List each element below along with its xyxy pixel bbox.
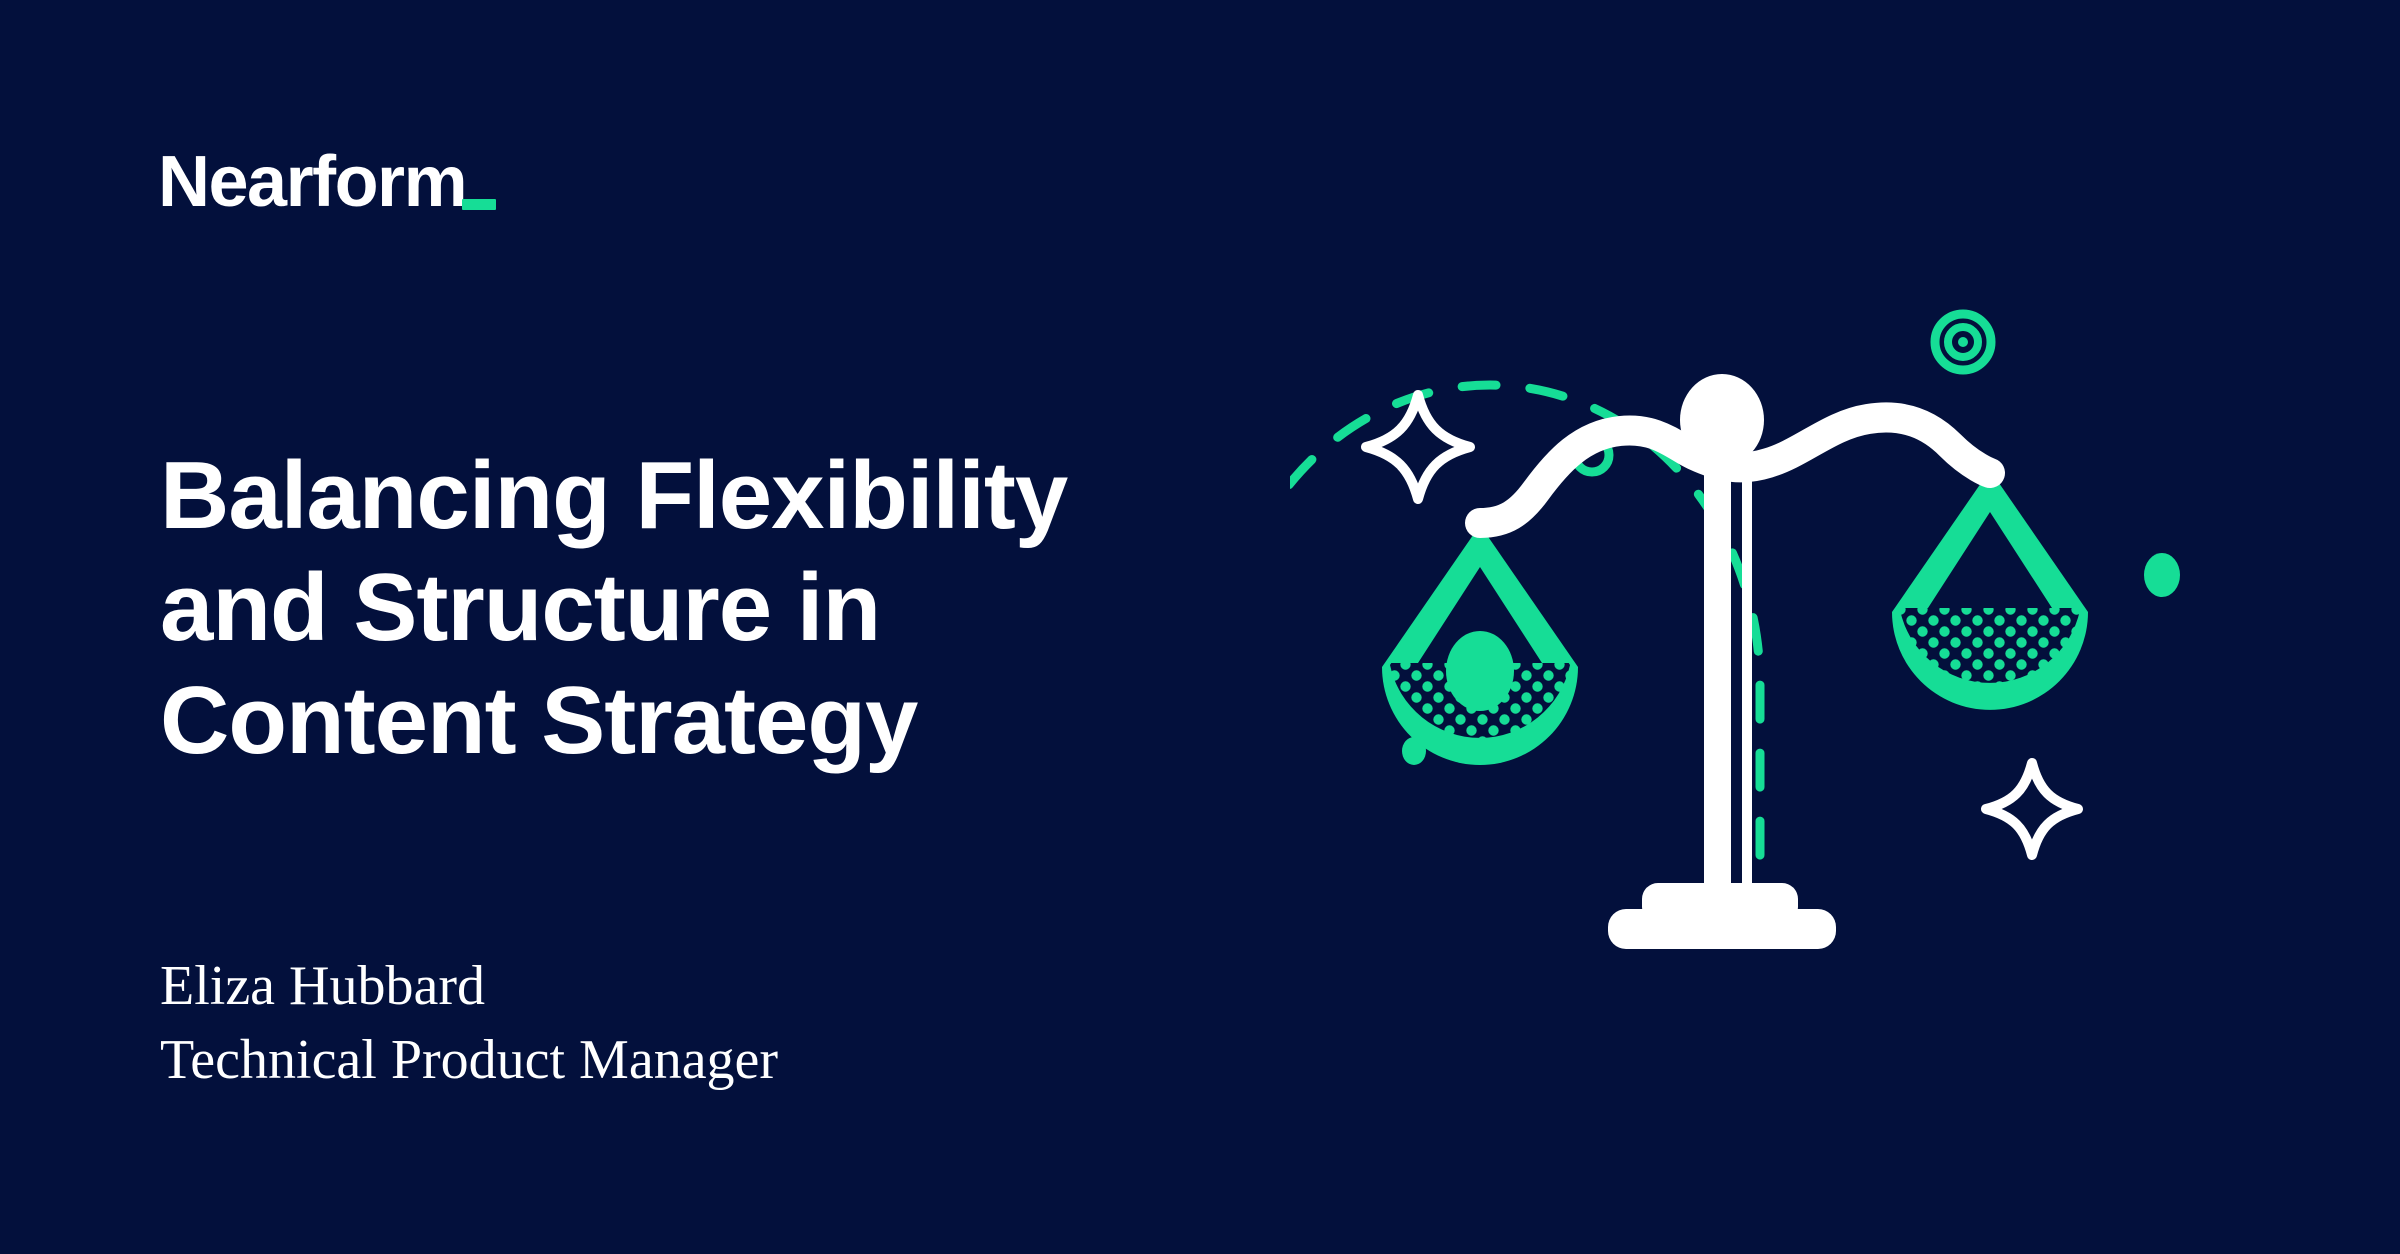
nearform-logo[interactable]: Nearform <box>158 148 496 216</box>
scale-base-lower <box>1608 909 1836 949</box>
logo-cursor-icon <box>462 199 496 210</box>
presenter-name: Eliza Hubbard <box>160 950 778 1024</box>
right-scale-pan <box>1880 470 2110 738</box>
scale-column <box>1704 443 1731 891</box>
sparkle-star-left-icon <box>1366 395 1470 499</box>
filled-dot-large-icon <box>2144 553 2180 597</box>
presenter-role: Technical Product Manager <box>160 1024 778 1098</box>
sparkle-star-right-icon <box>1986 763 2078 855</box>
left-pan-weight-icon <box>1446 631 1514 711</box>
logo-wordmark: Nearform <box>158 148 466 216</box>
presenter-block: Eliza Hubbard Technical Product Manager <box>160 950 778 1098</box>
bullseye-target-icon <box>1935 314 1991 370</box>
slide-root: Nearform Balancing Flexibility and Struc… <box>0 0 2400 1254</box>
slide-title: Balancing Flexibility and Structure in C… <box>160 440 1220 777</box>
scale-column-secondary <box>1742 467 1752 887</box>
balance-scales-illustration <box>1290 285 2270 965</box>
